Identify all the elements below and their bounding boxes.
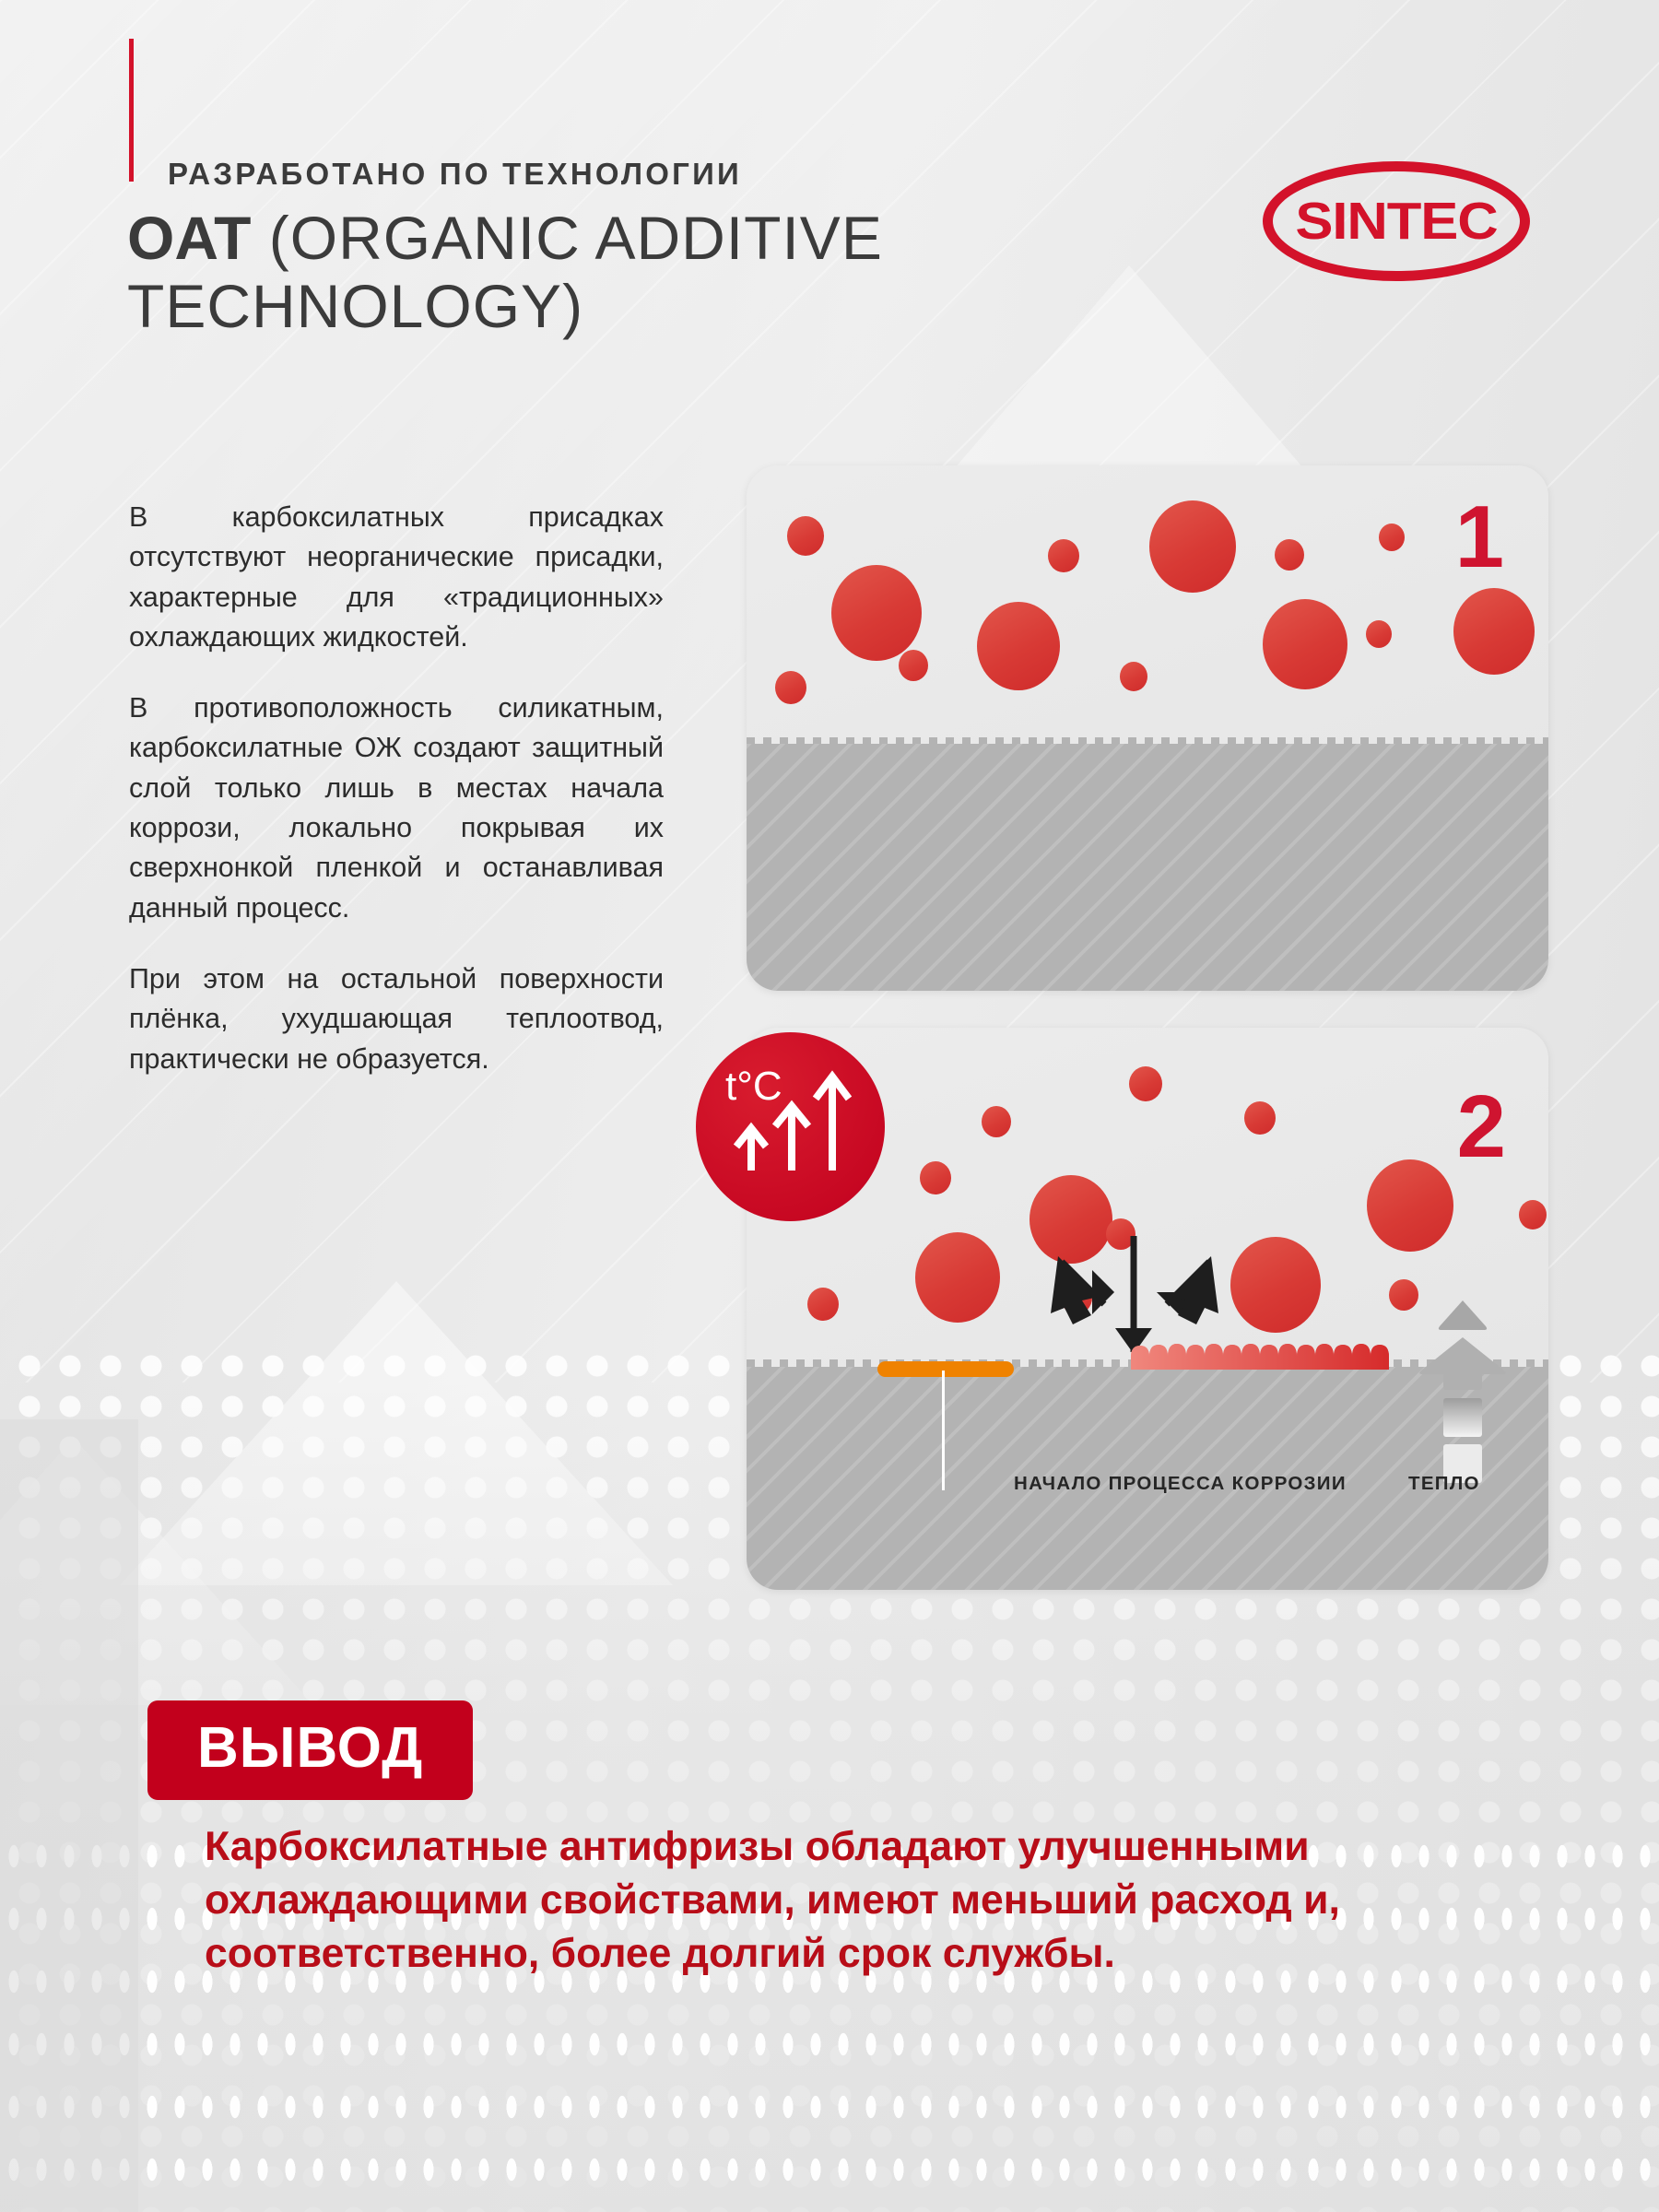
additive-bubble [831, 565, 922, 661]
additive-bubble [1453, 588, 1535, 675]
additive-bubble [982, 1106, 1011, 1137]
additive-bubble [1230, 1237, 1321, 1333]
header: РАЗРАБОТАНО ПО ТЕХНОЛОГИИ OAT (ORGANIC A… [0, 0, 1659, 406]
additive-bubble [920, 1161, 951, 1194]
additive-bubble [1367, 1159, 1453, 1252]
sintec-logo: SINTEC [1263, 161, 1530, 281]
heat-flow-icon [1412, 1299, 1513, 1497]
panel1-step-number: 1 [1455, 493, 1504, 582]
conclusion-badge-label: ВЫВОД [197, 1716, 423, 1780]
page-title-bold: OAT [127, 204, 251, 272]
panel1-metal-surface [747, 744, 1548, 991]
header-accent-rule [129, 39, 134, 182]
additive-bubble [775, 671, 806, 704]
conclusion-block: Карбоксилатные антифризы обладают улучше… [205, 1820, 1513, 1981]
additive-bubble [1244, 1101, 1276, 1135]
additive-bubble [1149, 500, 1236, 593]
panel-oat-coolant: 1 ОЖ НА OAT-ТЕХНОЛОГИИ (КАРБОКСИЛАТЫ) [747, 465, 1548, 991]
panel2-step-number: 2 [1457, 1083, 1506, 1171]
body-paragraph-3: При этом на остальной поверхности плёнка… [129, 959, 664, 1079]
temperature-rise-badge: t°C [696, 1032, 885, 1221]
additive-bubble [1263, 599, 1347, 689]
page-title: OAT (ORGANIC ADDITIVE TECHNOLOGY) [127, 205, 1141, 341]
additive-bubble [1048, 539, 1079, 572]
additive-bubble [787, 516, 824, 556]
body-paragraph-1: В карбоксилатных присадках отсутствуют н… [129, 498, 664, 657]
conclusion-badge: ВЫВОД [147, 1700, 473, 1800]
panel2-corrosion-caption-top: НАЧАЛО ПРОЦЕССА КОРРОЗИИ [1014, 1473, 1347, 1495]
additive-bubble [977, 602, 1060, 690]
additive-bubble [1519, 1200, 1547, 1230]
additive-bubble [915, 1232, 1000, 1323]
temperature-up-arrows-icon [696, 1032, 885, 1221]
body-paragraph-2: В противоположность силикатным, карбокси… [129, 688, 664, 928]
additive-bubble [1379, 524, 1405, 551]
additive-bubble [1366, 620, 1392, 648]
additive-bubble [899, 650, 928, 681]
additive-bubble [1275, 539, 1304, 571]
additive-bubble [1120, 662, 1147, 691]
corrosion-leader-line-top [942, 1371, 945, 1490]
protective-film-marker-top [877, 1361, 1014, 1377]
body-copy: В карбоксилатных присадках отсутствуют н… [129, 498, 664, 1079]
background-left-strip [0, 1419, 138, 2212]
additive-bubble [1129, 1066, 1162, 1101]
corrosion-bumps-top-icon [1125, 1335, 1402, 1371]
conclusion-text: Карбоксилатные антифризы обладают улучше… [205, 1820, 1513, 1981]
header-kicker: РАЗРАБОТАНО ПО ТЕХНОЛОГИИ [168, 157, 742, 192]
additive-bubble [807, 1288, 839, 1321]
panel2-heat-caption: ТЕПЛО [1408, 1473, 1480, 1495]
logo-wordmark: SINTEC [1252, 161, 1540, 281]
